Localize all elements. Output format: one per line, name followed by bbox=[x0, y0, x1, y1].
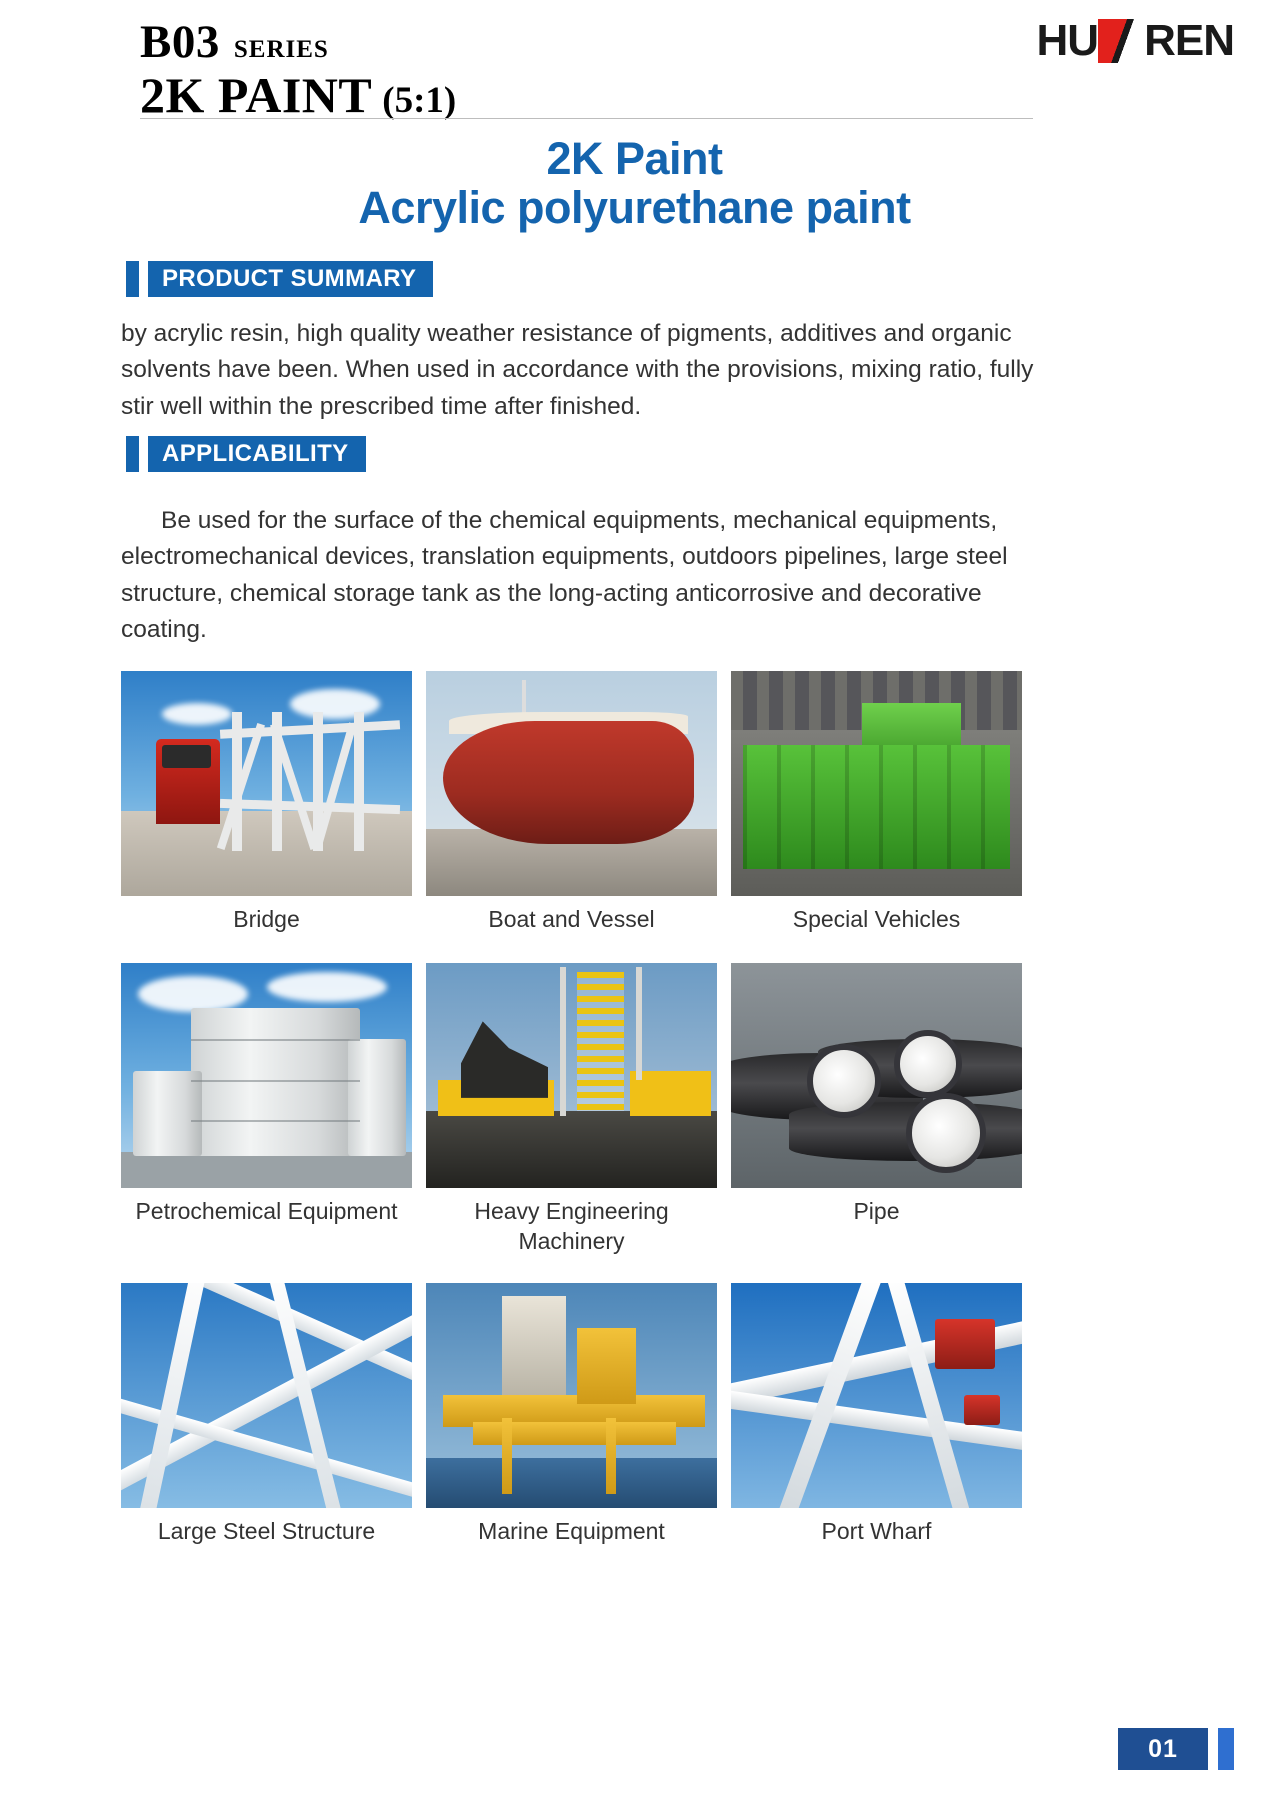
sea bbox=[426, 1458, 717, 1508]
photo-bridge bbox=[121, 671, 412, 896]
gallery-caption: Special Vehicles bbox=[731, 896, 1022, 935]
ground bbox=[121, 1152, 412, 1188]
page-subtitle: Acrylic polyurethane paint bbox=[0, 182, 1269, 234]
header-title-block: B03 SERIES 2K PAINT (5:1) bbox=[140, 18, 456, 122]
photo-marine-equipment bbox=[426, 1283, 717, 1508]
platform-leg bbox=[502, 1418, 512, 1495]
row-spacer bbox=[121, 1257, 1021, 1283]
gallery-item: Large Steel Structure bbox=[121, 1283, 412, 1547]
section-header-applicability: APPLICABILITY bbox=[126, 436, 366, 472]
product-name: 2K PAINT bbox=[140, 69, 372, 122]
photo-port-wharf bbox=[731, 1283, 1022, 1508]
gallery-row: Large Steel Structure Marine Equipment bbox=[121, 1283, 1021, 1547]
gallery-caption: Pipe bbox=[731, 1188, 1022, 1227]
logo-a-mark bbox=[1098, 19, 1144, 63]
gallery-caption: Large Steel Structure bbox=[121, 1508, 412, 1547]
tank-band bbox=[191, 1080, 360, 1082]
series-code: B03 bbox=[140, 18, 220, 67]
mast-pole bbox=[636, 967, 642, 1080]
header-line-series: B03 SERIES bbox=[140, 18, 456, 67]
pipe-opening bbox=[894, 1030, 962, 1098]
badge-accent-bar bbox=[126, 436, 139, 472]
badge-label: PRODUCT SUMMARY bbox=[148, 261, 433, 297]
truss-beam bbox=[354, 712, 364, 852]
cloud-shape bbox=[162, 703, 232, 725]
brochure-page: B03 SERIES 2K PAINT (5:1) HU REN 2K Pain… bbox=[0, 0, 1269, 1794]
photo-petrochemical-equipment bbox=[121, 963, 412, 1188]
platform-tower bbox=[502, 1296, 566, 1400]
page-number-badge: 01 bbox=[1118, 1728, 1234, 1770]
platform-module bbox=[577, 1328, 635, 1405]
logo-wordmark: HU REN bbox=[1037, 19, 1234, 63]
ground bbox=[426, 1111, 717, 1188]
gallery-item: Heavy Engineering Machinery bbox=[426, 963, 717, 1257]
pipe-opening bbox=[807, 1044, 881, 1118]
header-line-product: 2K PAINT (5:1) bbox=[140, 69, 456, 122]
crane-machine-house bbox=[964, 1395, 1000, 1425]
gallery-item: Marine Equipment bbox=[426, 1283, 717, 1547]
vehicle-ribs bbox=[743, 745, 1011, 869]
gallery-item: Port Wharf bbox=[731, 1283, 1022, 1547]
page-title: 2K Paint bbox=[0, 133, 1269, 185]
pipe-opening bbox=[906, 1093, 986, 1173]
gallery-row: Petrochemical Equipment Heavy Engineerin… bbox=[121, 963, 1021, 1257]
page-number: 01 bbox=[1118, 1728, 1208, 1770]
cloud-shape bbox=[290, 689, 380, 719]
storage-tank bbox=[348, 1039, 406, 1156]
gallery-row: Bridge Boat and Vessel bbox=[121, 671, 1021, 935]
series-word: SERIES bbox=[234, 36, 329, 64]
application-gallery: Bridge Boat and Vessel bbox=[121, 671, 1021, 1547]
photo-pipe bbox=[731, 963, 1022, 1188]
storage-tank bbox=[191, 1008, 360, 1157]
cloud-shape bbox=[267, 972, 387, 1002]
train-window bbox=[162, 745, 211, 768]
logo-text-ren: REN bbox=[1144, 19, 1234, 63]
storage-tank bbox=[133, 1071, 203, 1157]
logo-red-slash-icon bbox=[1098, 19, 1144, 63]
product-summary-text: by acrylic resin, high quality weather r… bbox=[121, 316, 1036, 425]
gallery-caption: Bridge bbox=[121, 896, 412, 935]
crane-machine-house bbox=[935, 1319, 995, 1369]
photo-heavy-engineering-machinery bbox=[426, 963, 717, 1188]
logo-text-hu: HU bbox=[1037, 19, 1099, 63]
gallery-caption: Petrochemical Equipment bbox=[121, 1188, 412, 1227]
gallery-item: Pipe bbox=[731, 963, 1022, 1257]
badge-accent-bar bbox=[126, 261, 139, 297]
gallery-item: Special Vehicles bbox=[731, 671, 1022, 935]
row-spacer bbox=[121, 935, 1021, 963]
photo-large-steel-structure bbox=[121, 1283, 412, 1508]
huaren-logo: HU REN bbox=[1037, 18, 1234, 64]
header-divider bbox=[140, 118, 1033, 119]
gallery-caption: Marine Equipment bbox=[426, 1508, 717, 1547]
gallery-item: Boat and Vessel bbox=[426, 671, 717, 935]
gallery-item: Petrochemical Equipment bbox=[121, 963, 412, 1257]
platform-leg bbox=[606, 1418, 616, 1495]
drilling-derrick bbox=[577, 972, 624, 1112]
gallery-caption: Boat and Vessel bbox=[426, 896, 717, 935]
gallery-caption: Port Wharf bbox=[731, 1508, 1022, 1547]
tank-band bbox=[191, 1039, 360, 1041]
photo-special-vehicles bbox=[731, 671, 1022, 896]
page-number-accent-bar bbox=[1218, 1728, 1234, 1770]
mast-pole bbox=[560, 967, 566, 1116]
applicability-text: Be used for the surface of the chemical … bbox=[121, 503, 1027, 648]
tank-band bbox=[191, 1120, 360, 1122]
gallery-item: Bridge bbox=[121, 671, 412, 935]
mix-ratio: (5:1) bbox=[382, 79, 456, 122]
page-header: B03 SERIES 2K PAINT (5:1) HU REN bbox=[0, 0, 1269, 135]
gallery-caption: Heavy Engineering Machinery bbox=[426, 1188, 717, 1257]
photo-boat-and-vessel bbox=[426, 671, 717, 896]
yellow-container bbox=[630, 1071, 711, 1116]
section-header-product-summary: PRODUCT SUMMARY bbox=[126, 261, 433, 297]
ship-hull bbox=[443, 721, 693, 845]
badge-label: APPLICABILITY bbox=[148, 436, 366, 472]
